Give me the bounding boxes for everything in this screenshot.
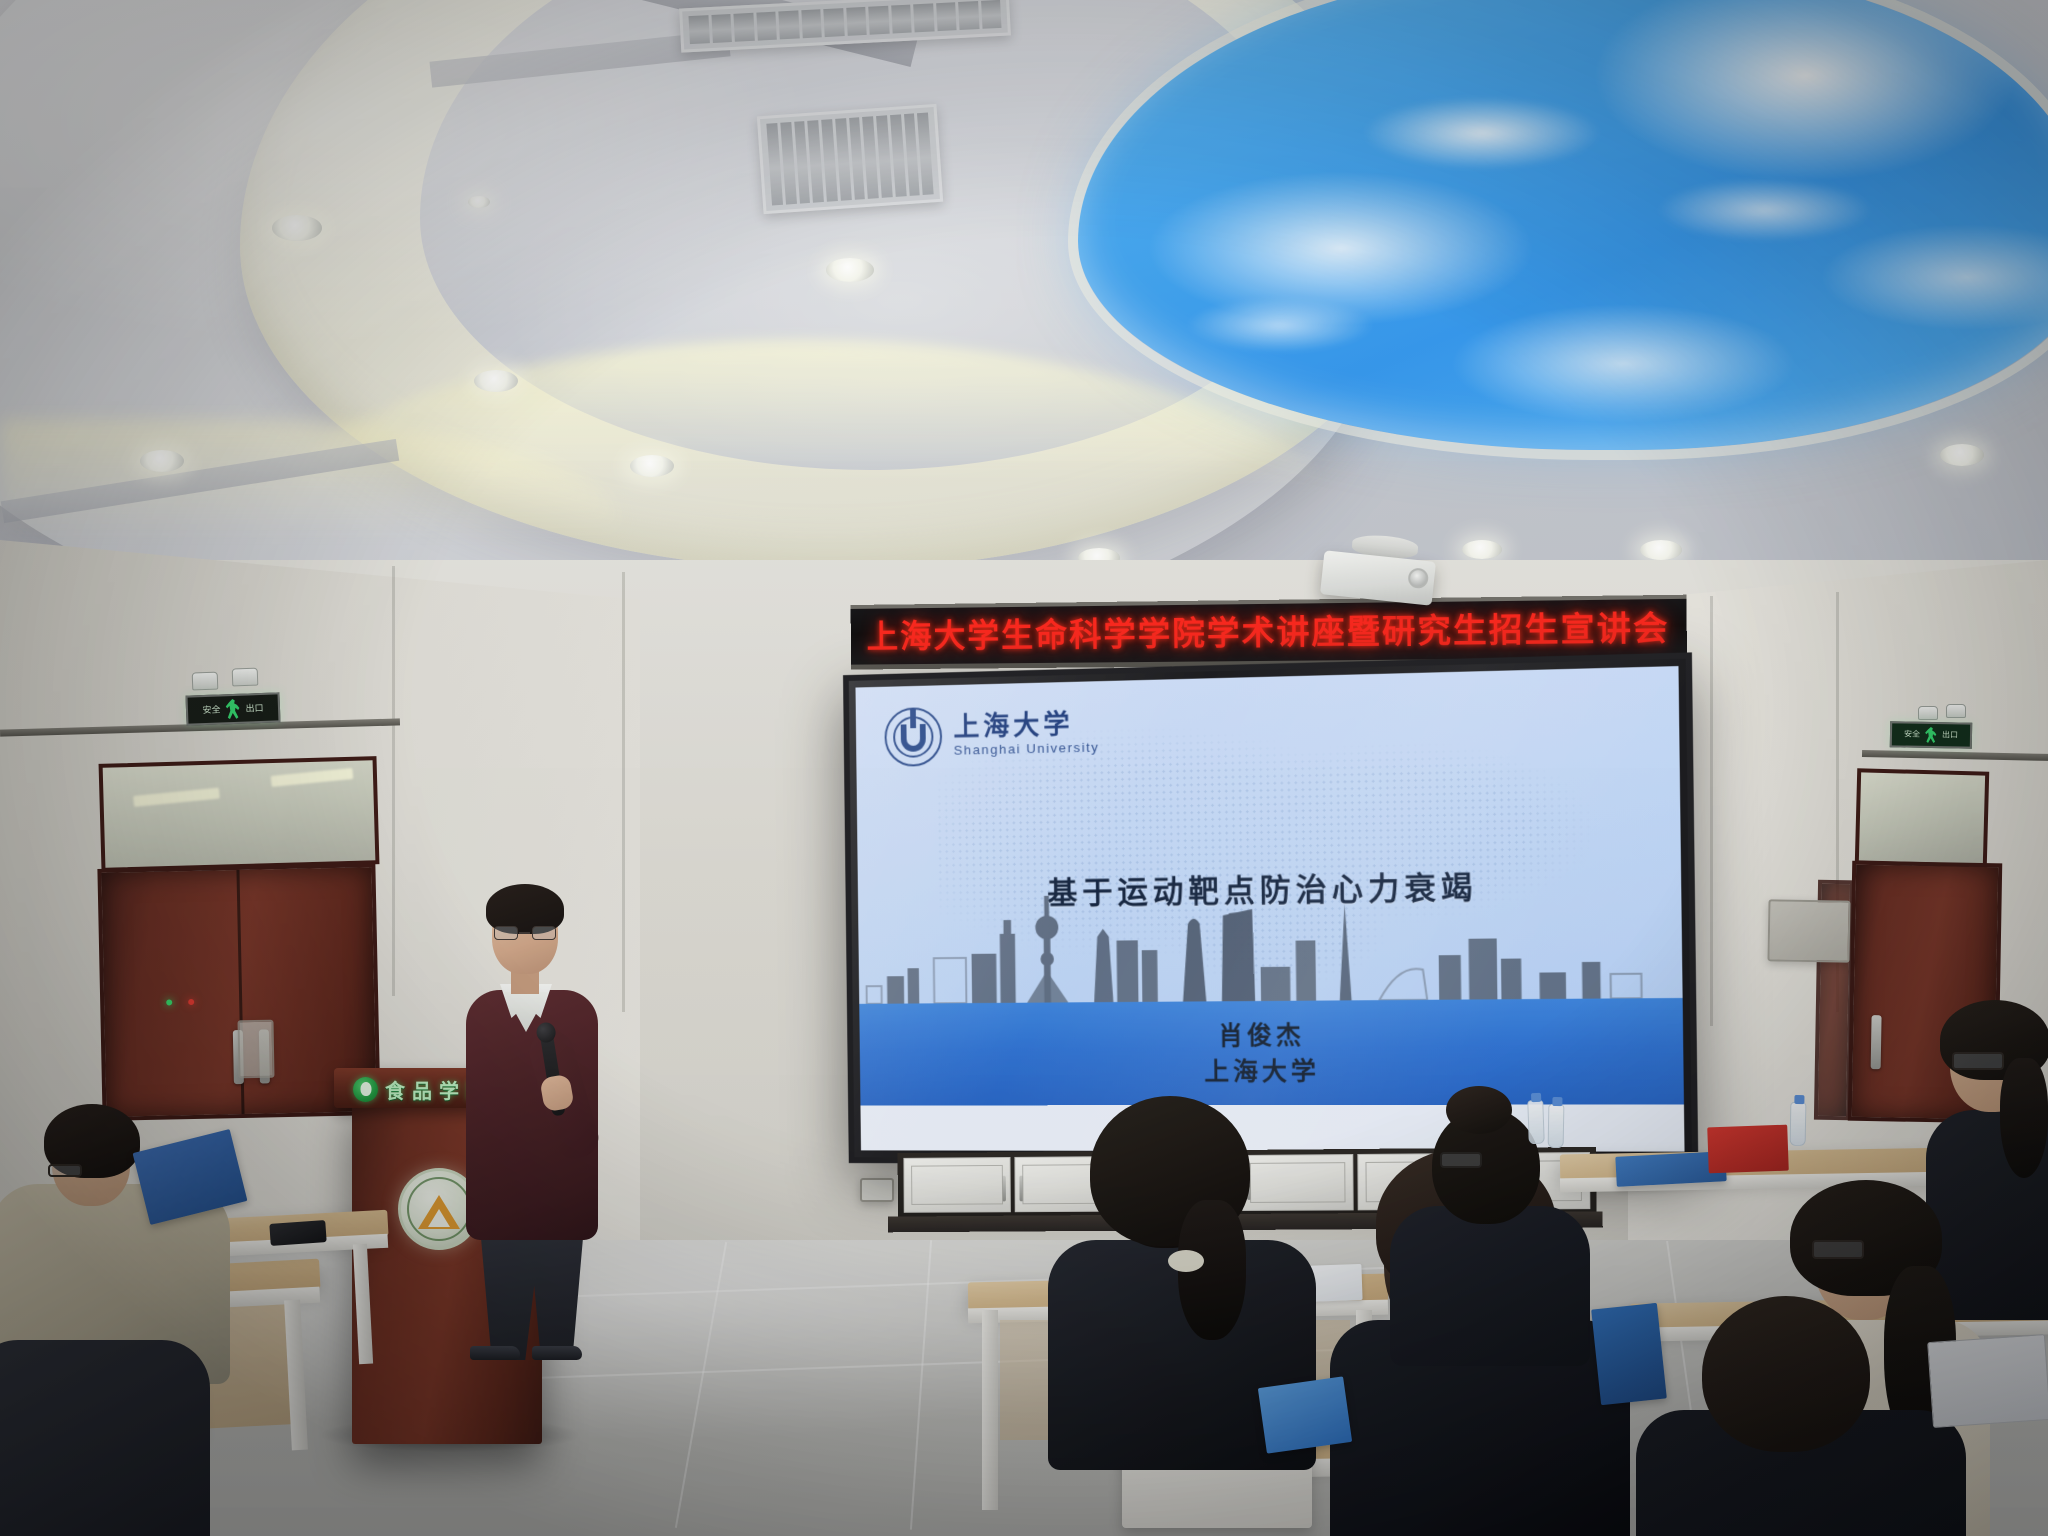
exit-sign-right-text-1: 安全 — [1904, 731, 1920, 739]
logo-name-cn: 上海大学 — [953, 711, 1099, 742]
emergency-light — [1946, 704, 1966, 718]
projector-lens-icon — [1407, 567, 1429, 589]
wall-outlet-box[interactable] — [237, 1020, 274, 1079]
audience-coat — [1390, 1206, 1590, 1366]
audience-glasses-icon — [48, 1164, 82, 1177]
downlight-icon — [140, 450, 184, 472]
exit-runner-icon — [1924, 727, 1938, 743]
wall-socket[interactable] — [860, 1178, 894, 1202]
wall-panel-seam — [622, 572, 625, 1012]
desk-leg — [982, 1310, 998, 1510]
presenter-affiliation: 上海大学 — [1204, 1058, 1320, 1083]
presentation-slide: 上海大学 Shanghai University 基于运动靶点防治心力衰竭 — [855, 666, 1684, 1152]
logo-text-block: 上海大学 Shanghai University — [953, 711, 1099, 757]
transom-ceiling-light — [271, 768, 354, 787]
laptop[interactable] — [1927, 1334, 2048, 1428]
speaker-shoe — [532, 1346, 582, 1360]
hair-tie — [1168, 1250, 1204, 1272]
wall-panel-seam — [392, 566, 395, 996]
air-vent-icon — [757, 104, 943, 214]
audience-glasses-icon — [1440, 1152, 1482, 1168]
cabinet-door[interactable] — [903, 1157, 1011, 1213]
audience-member-foreground — [0, 1300, 210, 1536]
presenter-name: 肖俊杰 — [1218, 1022, 1305, 1047]
speaker-shoe — [470, 1346, 520, 1360]
seal-u-glyph — [901, 724, 926, 752]
water-bottle[interactable] — [1790, 1102, 1807, 1146]
cabinet-handle[interactable] — [1020, 1176, 1024, 1202]
wall-panel-seam — [1710, 596, 1713, 1026]
audience-hair-bun — [1446, 1086, 1512, 1134]
water-bottle[interactable] — [1527, 1100, 1545, 1145]
shanghai-skyline-graphic — [858, 885, 1683, 1004]
speaker-presenter — [456, 880, 608, 1350]
emergency-light — [192, 672, 219, 691]
downlight-icon — [468, 196, 490, 208]
audience-member — [1048, 1090, 1318, 1430]
ceiling — [0, 0, 2048, 620]
speaker-legs — [476, 1232, 588, 1360]
exit-sign-right-text-2: 出口 — [1942, 731, 1958, 739]
lecture-hall-photo: 安全 出口 安全 出口 上海大学生命科学学院学术讲座暨研究生招生宣讲会 上海大学 — [0, 0, 2048, 1536]
audience-jacket — [0, 1340, 210, 1536]
audience-hair-long — [2000, 1058, 2048, 1178]
downlight-icon — [272, 215, 322, 241]
audience-glasses-icon — [1952, 1052, 2004, 1070]
downlight-icon — [1940, 444, 1984, 466]
door-status-led-green — [166, 999, 172, 1005]
exit-sign-left-text-1: 安全 — [202, 705, 220, 715]
speaker-glasses-icon — [494, 926, 556, 941]
led-banner-text: 上海大学生命科学学院学术讲座暨研究生招生宣讲会 — [866, 611, 1669, 652]
red-folder[interactable] — [1707, 1125, 1789, 1174]
cabinet-handle[interactable] — [1002, 1176, 1006, 1202]
audience-head — [1702, 1296, 1870, 1452]
water-bottle[interactable] — [1548, 1104, 1565, 1148]
transom-ceiling-light — [133, 788, 220, 807]
exit-sign-left-text-2: 出口 — [245, 703, 263, 713]
door-status-led-red — [188, 999, 194, 1005]
university-seal-icon — [884, 707, 942, 767]
phone[interactable] — [269, 1220, 326, 1246]
door-transom-right — [1855, 768, 1989, 867]
downlight-icon — [1462, 540, 1502, 559]
emergency-light — [232, 668, 259, 687]
shanghai-university-logo: 上海大学 Shanghai University — [884, 703, 1099, 767]
exit-sign-left: 安全 出口 — [186, 692, 281, 725]
downlight-icon — [630, 455, 674, 477]
emergency-light — [1918, 706, 1938, 720]
exit-sign-right: 安全 出口 — [1890, 721, 1972, 748]
logo-name-en: Shanghai University — [954, 740, 1100, 757]
booklet[interactable] — [1258, 1376, 1352, 1453]
downlight-icon — [826, 258, 874, 282]
wall-control-box[interactable] — [1767, 899, 1850, 962]
exit-runner-icon — [224, 699, 242, 720]
sky-ceiling-rim — [1068, 0, 2048, 460]
downlight-icon — [1640, 540, 1682, 560]
audience-glasses-icon — [1812, 1240, 1864, 1259]
door-transom-left — [99, 756, 380, 872]
audience-member — [1636, 1290, 1966, 1536]
downlight-icon — [474, 370, 518, 392]
food-college-logo-icon — [353, 1077, 378, 1102]
door-handle[interactable] — [1871, 1015, 1882, 1069]
